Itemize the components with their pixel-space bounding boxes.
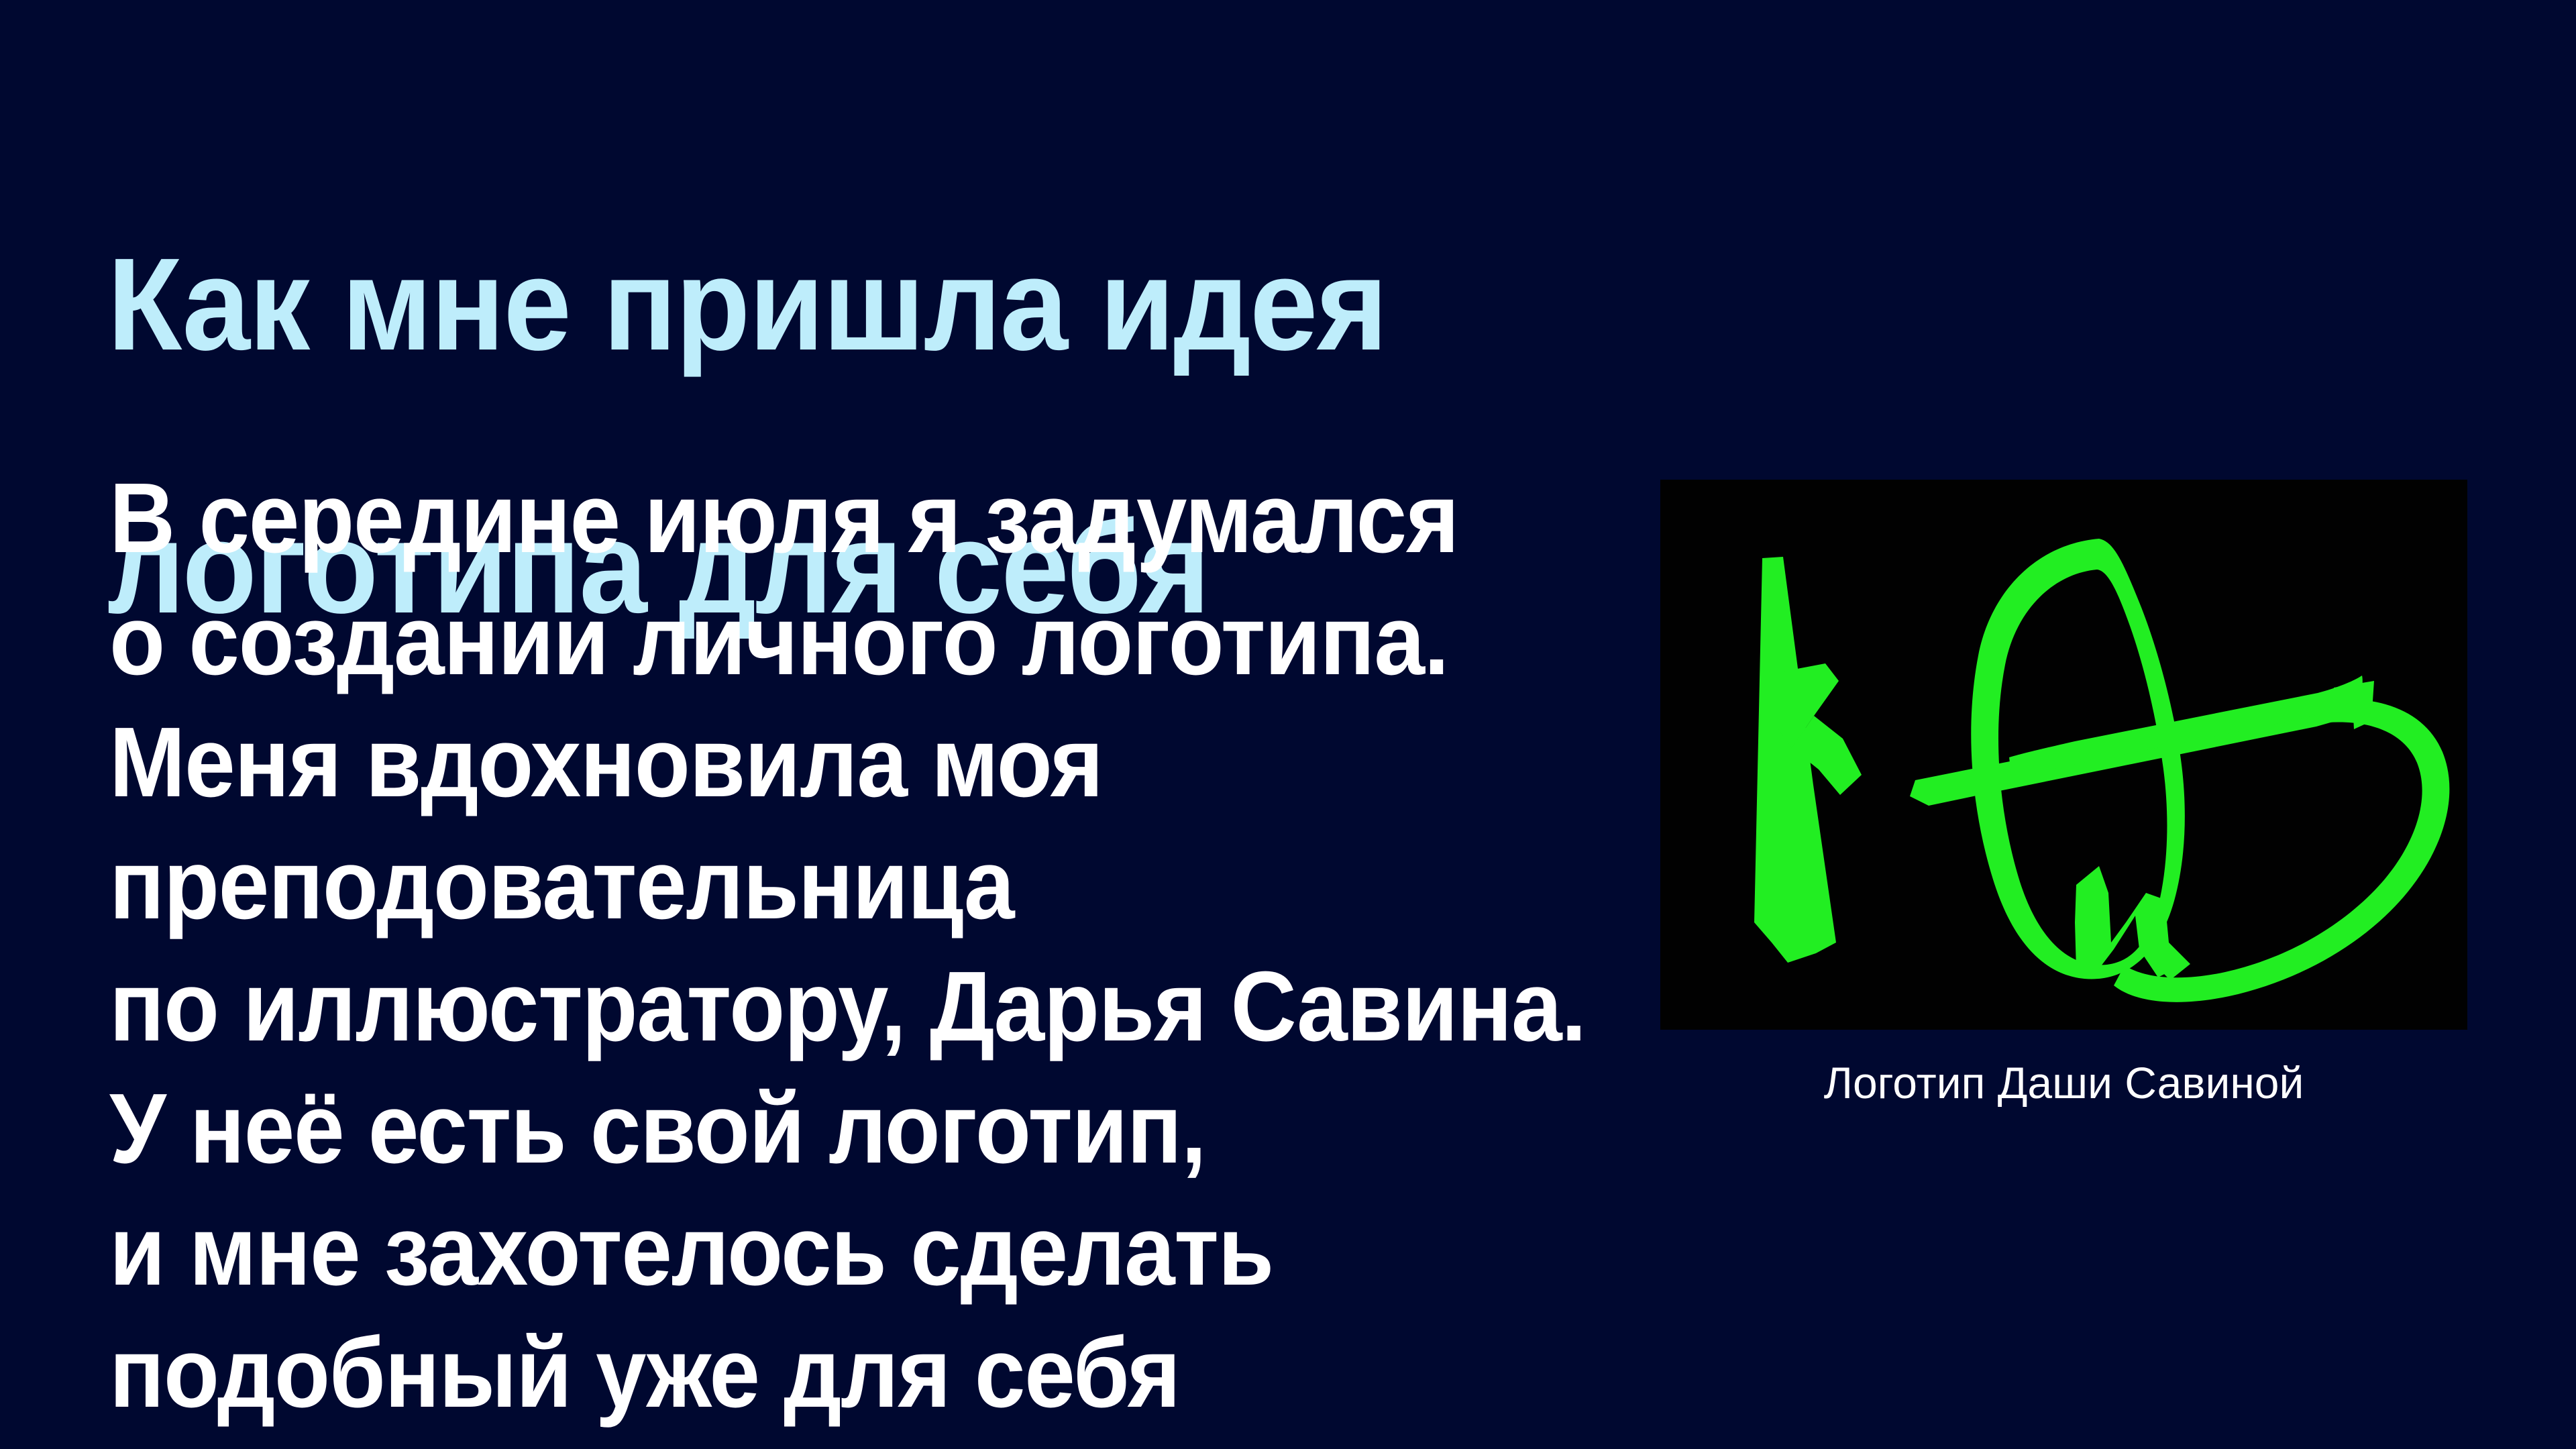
logo-figure-caption: Логотип Даши Савиной xyxy=(1660,1058,2467,1108)
body-line-1: В середине июля я задумался xyxy=(109,458,1548,580)
body-line-6: У неё есть свой логотип, xyxy=(109,1068,1548,1190)
logo-figure: Логотип Даши Савиной xyxy=(1660,480,2467,1108)
body-line-2: о создании личного логотипа. xyxy=(109,580,1548,702)
logo-monogram-icon xyxy=(1660,480,2467,1030)
slide-title-line-1: Как мне пришла идея xyxy=(107,239,1605,370)
body-line-3: Меня вдохновила моя xyxy=(109,702,1548,824)
body-line-7: и мне захотелось сделать xyxy=(109,1190,1548,1312)
slide-body-text: В середине июля я задумался о создании л… xyxy=(109,458,1548,1434)
logo-image-frame xyxy=(1660,480,2467,1030)
body-line-4: преподовательница xyxy=(109,824,1548,946)
body-line-8: подобный уже для себя xyxy=(109,1312,1548,1434)
body-line-5: по иллюстратору, Дарья Савина. xyxy=(109,946,1548,1068)
presentation-slide: Как мне пришла идея логотипа для себя В … xyxy=(0,0,2576,1449)
